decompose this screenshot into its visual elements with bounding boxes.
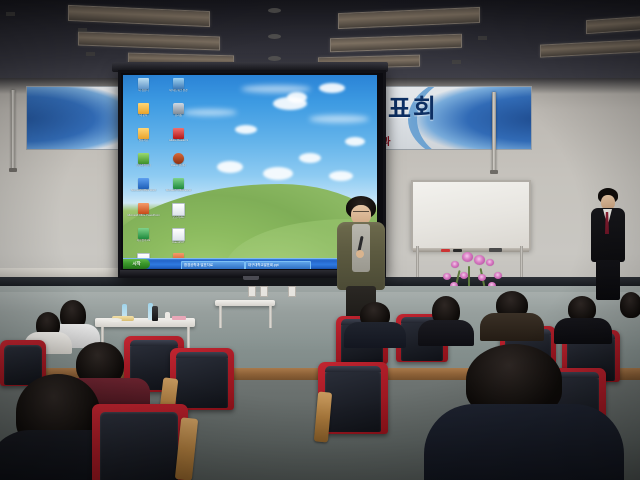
desktop-icon-daum-cleaner[interactable]: Daum 클리너 bbox=[161, 152, 196, 177]
orchid-bloom bbox=[462, 252, 473, 262]
desktop-icon-label: 보고서.doc bbox=[161, 216, 196, 219]
orchid-bloom bbox=[478, 274, 486, 281]
whiteboard-eraser-icon bbox=[489, 248, 502, 252]
ceiling-vent-icon bbox=[478, 36, 487, 40]
ceiling-light bbox=[586, 16, 640, 34]
desktop-icon-label: Daum 클리너 bbox=[161, 164, 196, 167]
cloud-icon bbox=[319, 83, 345, 93]
seat-headrest bbox=[325, 366, 381, 372]
wall-outlet-icon bbox=[288, 286, 296, 297]
desktop-icon-network[interactable]: 내 네트워크 환경 bbox=[161, 77, 196, 102]
slide-folder-icon[interactable] bbox=[138, 128, 149, 139]
pink-paper-icon bbox=[172, 316, 186, 320]
audience-shoulders bbox=[418, 320, 474, 346]
orchid-bloom bbox=[451, 261, 459, 268]
whiteboard-leg bbox=[416, 246, 419, 280]
my-computer-icon[interactable] bbox=[138, 78, 149, 89]
cloud-icon bbox=[235, 125, 257, 134]
presenter-glasses-icon bbox=[353, 211, 369, 216]
cloud-icon bbox=[263, 167, 293, 180]
desktop-icon-grid[interactable]: 내 컴퓨터내 네트워크 환경내 문서휴지통발표자료Adobe Reader 9한… bbox=[126, 77, 200, 269]
desktop-icon-label: 내 네트워크 환경 bbox=[161, 89, 196, 92]
audience-head bbox=[620, 292, 640, 318]
quick-launch-bar[interactable] bbox=[153, 261, 175, 267]
side-table-top bbox=[215, 300, 275, 306]
seat-cushion bbox=[325, 369, 381, 432]
desktop-icon-label: 발표자료 bbox=[126, 139, 161, 142]
desktop-icon-label: Adobe Reader 9 bbox=[161, 139, 196, 142]
hancom-office-icon[interactable] bbox=[138, 153, 149, 164]
desktop-icon-label: 내 문서 bbox=[126, 114, 161, 117]
data-sheet-icon[interactable] bbox=[138, 228, 149, 239]
orchid-bloom bbox=[474, 255, 485, 265]
desktop-icon-label: Microsoft Office Word bbox=[126, 189, 161, 192]
desktop-icon-recycle-bin[interactable]: 휴지통 bbox=[161, 102, 196, 127]
audience-shoulders bbox=[554, 318, 612, 344]
desktop-icon-label: 내 컴퓨터 bbox=[126, 89, 161, 92]
orchid-bloom bbox=[486, 259, 494, 266]
auditorium-seat bbox=[92, 404, 188, 480]
cloud-icon bbox=[299, 153, 321, 163]
wall-pole-left bbox=[11, 90, 15, 170]
audience-shoulders bbox=[344, 322, 406, 348]
taskbar-window-button[interactable]: 환경공학과 발표자료 bbox=[181, 261, 245, 270]
ceiling-vent-icon bbox=[86, 52, 95, 56]
seat-headrest bbox=[130, 340, 178, 346]
ms-office-word-icon[interactable] bbox=[138, 178, 149, 189]
seat-headrest bbox=[176, 352, 228, 358]
recycle-bin-icon[interactable] bbox=[173, 103, 184, 114]
ceiling-light bbox=[540, 39, 640, 57]
my-documents-icon[interactable] bbox=[138, 103, 149, 114]
orchid-bloom bbox=[494, 272, 502, 279]
lecture-hall-photo: 대구대학교 졸업작품 발표회 대구대학교 졸업작품 발표회 일시 : 2009.… bbox=[0, 0, 640, 480]
daum-cleaner-icon[interactable] bbox=[173, 153, 184, 164]
ceiling-light bbox=[68, 5, 210, 27]
desktop-icon-label: 한글과컴퓨터 bbox=[126, 164, 161, 167]
ceiling-speaker-icon bbox=[268, 56, 281, 61]
desktop-icon-label: DaumPOT bbox=[161, 241, 196, 244]
cloud-wisp-icon bbox=[309, 115, 369, 123]
ceiling-vent-icon bbox=[6, 12, 15, 16]
daum-pot-icon[interactable] bbox=[172, 228, 185, 241]
ceiling-light bbox=[330, 34, 462, 53]
ceiling-vent-icon bbox=[78, 28, 87, 32]
projection-screen-handle[interactable] bbox=[243, 276, 259, 280]
desktop-icon-ms-office-excel[interactable]: Microsoft Office Excel bbox=[161, 177, 196, 202]
wall-outlet-icon bbox=[260, 286, 268, 297]
ceiling-speaker-icon bbox=[268, 34, 281, 39]
report-doc-icon[interactable] bbox=[172, 203, 185, 216]
orchid-bloom bbox=[443, 273, 451, 280]
standing-staff-member bbox=[588, 188, 628, 300]
desktop-icon-label: 자료정리.xls bbox=[126, 239, 161, 242]
paper-cup-icon bbox=[165, 312, 170, 319]
taskbar-window-button[interactable]: 대구대학교발표회.ppt bbox=[245, 261, 311, 270]
audience-shoulders-foreground bbox=[424, 404, 624, 480]
desktop-icon-label: Microsoft Office Excel bbox=[161, 189, 196, 192]
ceiling-light bbox=[338, 7, 480, 29]
desktop-icon-hancom-office[interactable]: 한글과컴퓨터 bbox=[126, 152, 161, 177]
desktop-icon-slide-folder[interactable]: 발표자료 bbox=[126, 127, 161, 152]
desktop-icon-data-sheet[interactable]: 자료정리.xls bbox=[126, 227, 161, 252]
side-table bbox=[215, 300, 275, 330]
ceiling-speaker-icon bbox=[268, 8, 281, 13]
ms-office-excel-icon[interactable] bbox=[173, 178, 184, 189]
staff-trousers bbox=[596, 260, 620, 300]
cloud-icon bbox=[329, 171, 353, 181]
adobe-reader-icon[interactable] bbox=[173, 128, 184, 139]
ms-office-ppt-icon[interactable] bbox=[138, 203, 149, 214]
desktop-icon-my-computer[interactable]: 내 컴퓨터 bbox=[126, 77, 161, 102]
start-button[interactable]: 시작 bbox=[123, 259, 150, 269]
desktop-icon-my-documents[interactable]: 내 문서 bbox=[126, 102, 161, 127]
whiteboard bbox=[411, 180, 531, 250]
soda-bottle-icon bbox=[152, 306, 158, 321]
wall-pole-right bbox=[492, 92, 496, 172]
desktop-icon-ms-office-word[interactable]: Microsoft Office Word bbox=[126, 177, 161, 202]
presenter-hand bbox=[356, 250, 364, 258]
wall-pole-cap-icon bbox=[9, 168, 17, 172]
seat-cushion bbox=[176, 354, 228, 408]
side-table-leg bbox=[219, 306, 222, 328]
orchid-bloom bbox=[460, 272, 468, 279]
wall-outlet-icon bbox=[248, 286, 256, 297]
ceiling-light bbox=[78, 32, 220, 51]
desktop-icon-label: 휴지통 bbox=[161, 114, 196, 117]
side-table-leg bbox=[269, 306, 272, 328]
cloud-icon bbox=[345, 137, 365, 146]
cloud-icon bbox=[287, 92, 307, 103]
desktop-icon-adobe-reader[interactable]: Adobe Reader 9 bbox=[161, 127, 196, 152]
cloud-wisp-icon bbox=[241, 85, 311, 93]
auditorium-seat bbox=[170, 348, 234, 410]
ceiling-vent-icon bbox=[452, 60, 461, 64]
cloud-icon bbox=[217, 161, 243, 173]
wall-pole-cap-icon bbox=[490, 170, 498, 174]
seat-cushion bbox=[100, 412, 178, 480]
network-icon[interactable] bbox=[173, 78, 184, 89]
whiteboard-leg bbox=[520, 246, 523, 280]
desktop-icon-label: Microsoft Office PowerPoint bbox=[126, 214, 161, 217]
desktop-icon-report-doc[interactable]: 보고서.doc bbox=[161, 202, 196, 227]
plate-icon bbox=[108, 318, 122, 322]
desktop-icon-ms-office-ppt[interactable]: Microsoft Office PowerPoint bbox=[126, 202, 161, 227]
desktop-icon-daum-pot[interactable]: DaumPOT bbox=[161, 227, 196, 252]
audience-shoulders bbox=[480, 313, 544, 341]
